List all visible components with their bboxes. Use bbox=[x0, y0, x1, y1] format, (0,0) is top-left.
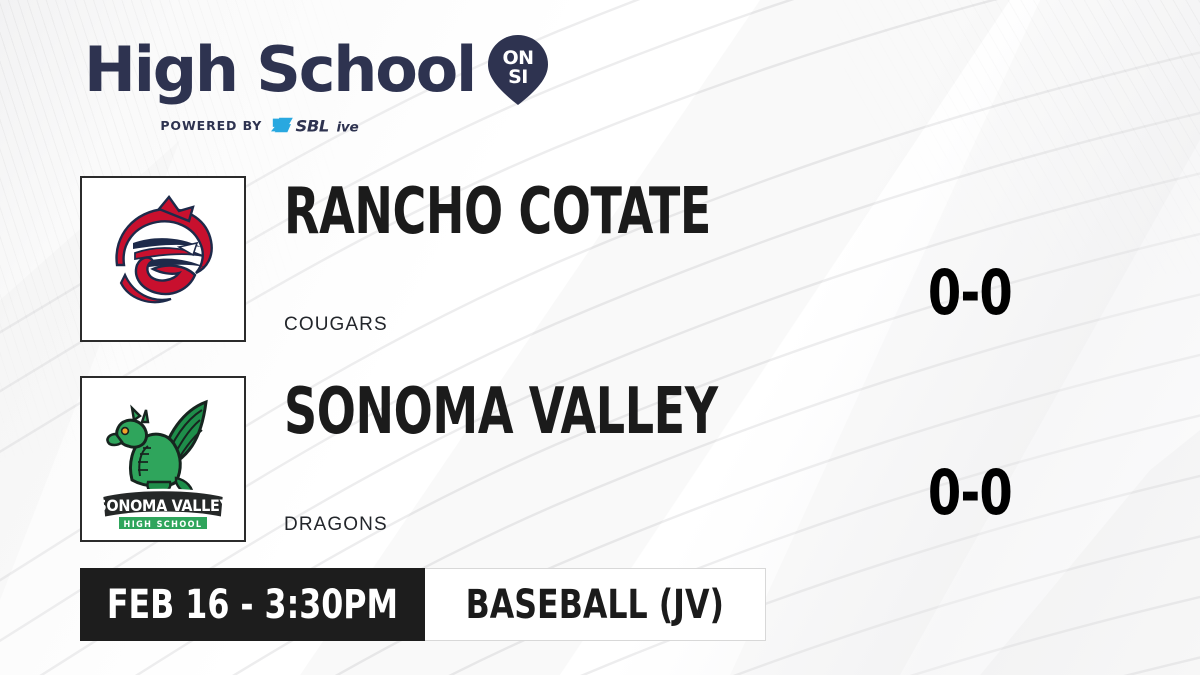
team-score-away: 0-0 bbox=[880, 462, 1060, 524]
team-score-home: 0-0 bbox=[880, 262, 1060, 324]
team-logo-card-away[interactable]: SONOMA VALLEY HIGH SCHOOL bbox=[80, 376, 246, 542]
team-logo-card-home[interactable] bbox=[80, 176, 246, 342]
svg-text:SI: SI bbox=[508, 66, 528, 88]
team-name-away: SONOMA VALLEY bbox=[284, 380, 780, 444]
team-text-away: SONOMA VALLEY DRAGONS bbox=[284, 376, 904, 536]
team-name-home: RANCHO COTATE bbox=[284, 180, 780, 244]
team-text-home: RANCHO COTATE COUGARS bbox=[284, 176, 904, 336]
brand-wordmark-row: High School ON SI bbox=[84, 34, 504, 106]
brand-logo[interactable]: High School ON SI POWERED BY SBL ive bbox=[84, 34, 504, 135]
game-datetime-block: FEB 16 - 3:30PM bbox=[80, 568, 425, 641]
powered-by-label: POWERED BY bbox=[160, 118, 262, 133]
brand-wordmark: High School bbox=[84, 39, 475, 101]
game-info-bar: FEB 16 - 3:30PM BASEBALL (JV) bbox=[80, 568, 766, 641]
on-si-pin-icon: ON SI bbox=[487, 34, 549, 106]
team-mascot-home: COUGARS bbox=[284, 314, 904, 336]
game-sport-block: BASEBALL (JV) bbox=[425, 568, 766, 641]
sblive-logo-icon: SBL ive bbox=[271, 115, 387, 135]
logo-ribbon-text: HIGH SCHOOL bbox=[124, 520, 203, 530]
svg-text:ive: ive bbox=[337, 119, 359, 135]
logo-banner-text: SONOMA VALLEY bbox=[96, 496, 230, 515]
dragon-crest-logo-icon: SONOMA VALLEY HIGH SCHOOL bbox=[88, 384, 238, 534]
powered-by-row: POWERED BY SBL ive bbox=[84, 115, 504, 135]
cougar-head-logo-icon bbox=[93, 189, 233, 329]
matchup-graphic: High School ON SI POWERED BY SBL ive bbox=[0, 0, 1200, 675]
svg-text:SBL: SBL bbox=[296, 116, 329, 135]
team-mascot-away: DRAGONS bbox=[284, 514, 904, 536]
